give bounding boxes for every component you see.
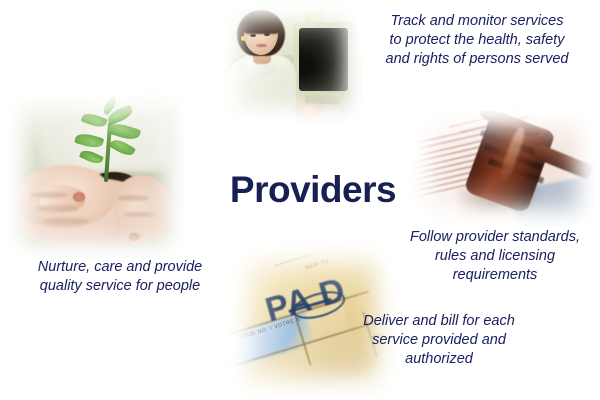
page-title: Providers [228, 170, 398, 210]
caption-track-line-3: and rights of persons served [358, 50, 596, 69]
caption-track-monitor: Track and monitor services to protect th… [358, 12, 596, 69]
caption-follow-line-3: requirements [392, 266, 598, 285]
gavel-on-documents-photo [412, 110, 594, 226]
caption-deliver-line-3: authorized [330, 350, 548, 369]
caption-track-line-1: Track and monitor services [358, 12, 596, 31]
caption-nurture-line-1: Nurture, care and provide [2, 258, 238, 277]
caption-deliver-line-2: service provided and [330, 331, 548, 350]
caption-follow-line-2: rules and licensing [392, 247, 598, 266]
providers-infographic: Nurture, care and provide quality servic… [0, 0, 600, 400]
caption-deliver-bill: Deliver and bill for each service provid… [330, 312, 548, 369]
caption-nurture-line-2: quality service for people [2, 277, 238, 296]
caption-deliver-line-1: Deliver and bill for each [330, 312, 548, 331]
caption-nurture: Nurture, care and provide quality servic… [2, 258, 238, 296]
woman-at-computer-photo [222, 2, 362, 122]
caption-track-line-2: to protect the health, safety [358, 31, 596, 50]
hands-holding-seedling-photo [8, 92, 184, 258]
caption-follow-line-1: Follow provider standards, [392, 228, 598, 247]
caption-follow-standards: Follow provider standards, rules and lic… [392, 228, 598, 285]
